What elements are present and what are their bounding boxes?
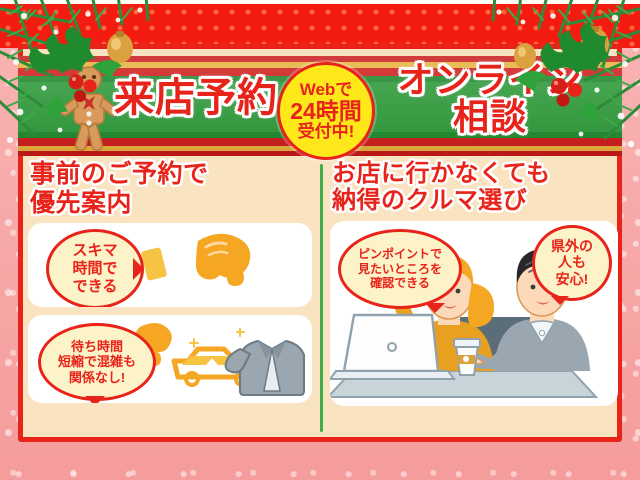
bubble-no-waiting: 待ち時間 短縮で混雑も 関係なし! — [38, 323, 156, 401]
ribbon-title-left: 来店予約 — [96, 78, 296, 119]
bubble-out-of-prefecture-line3: 安心! — [551, 271, 593, 288]
panel-left-heading-line1: 事前のご予約で — [30, 160, 312, 189]
bubble-no-waiting-line2: 短縮で混雑も — [58, 354, 136, 369]
feature-card-online-meeting: ピンポイントで 見たいところを 確認できる 県外の 人も 安心! — [330, 221, 618, 406]
panel-right-heading-line1: お店に行かなくても — [332, 160, 618, 187]
badge-line1: Webで — [300, 81, 353, 99]
bubble-spare-time-line1: スキマ — [72, 242, 117, 260]
ribbon-title-right-line2: 相談 — [370, 99, 610, 136]
panel-left-heading-line2: 優先案内 — [30, 189, 312, 218]
badge-line3: 受付中! — [298, 123, 355, 141]
badge-line2: 24時間 — [290, 99, 362, 123]
bubble-out-of-prefecture-line1: 県外の — [551, 238, 593, 255]
ribbon-title-right: オンライン 相談 — [370, 62, 610, 135]
promo-banner: 来店予約 オンライン 相談 Webで 24時間 受付中! 事前のご予約で 優先案… — [0, 0, 640, 480]
bubble-spare-time: スキマ 時間で できる — [46, 229, 144, 307]
bubble-pinpoint-line3: 確認できる — [358, 276, 442, 290]
panel-online-consult: お店に行かなくても 納得のクルマ選び — [330, 160, 618, 438]
bubble-out-of-prefecture-line2: 人も — [551, 254, 593, 271]
bubble-spare-time-line3: できる — [72, 278, 117, 296]
bubble-no-waiting-line1: 待ち時間 — [58, 339, 136, 354]
bubble-out-of-prefecture: 県外の 人も 安心! — [532, 225, 612, 301]
ribbon-title-right-line1: オンライン — [370, 62, 610, 99]
bubble-spare-time-line2: 時間で — [72, 260, 117, 278]
bubble-pinpoint-line2: 見たいところを — [358, 262, 442, 276]
feature-card-spare-time: スキマ 時間で できる — [28, 223, 312, 307]
web-24h-badge: Webで 24時間 受付中! — [277, 62, 375, 160]
feature-card-no-waiting: 待ち時間 短縮で混雑も 関係なし! — [28, 315, 312, 403]
panel-divider — [320, 164, 323, 432]
panel-left-heading: 事前のご予約で 優先案内 — [30, 160, 312, 217]
bubble-no-waiting-line3: 関係なし! — [58, 370, 136, 385]
panel-right-heading: お店に行かなくても 納得のクルマ選び — [332, 160, 618, 215]
panel-reservation: 事前のご予約で 優先案内 スキマ 時間で できる — [28, 160, 312, 438]
bubble-pinpoint-line1: ピンポイントで — [358, 247, 442, 261]
bubble-pinpoint-check: ピンポイントで 見たいところを 確認できる — [338, 229, 462, 309]
top-polka-dot-strip — [0, 4, 640, 48]
panel-right-heading-line2: 納得のクルマ選び — [332, 187, 618, 214]
